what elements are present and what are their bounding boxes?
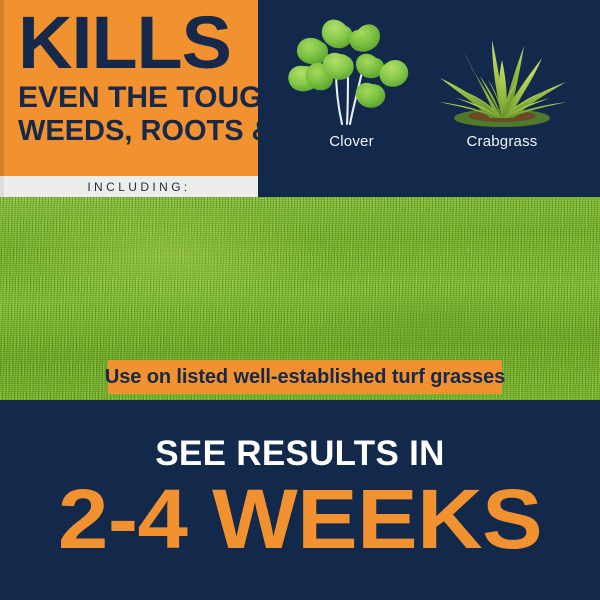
weed-showcase-panel: Clover: [258, 0, 600, 197]
including-strip: INCLUDING:: [0, 176, 258, 197]
see-results-heading: SEE RESULTS IN: [0, 436, 600, 471]
headline-kills: KILLS: [18, 8, 255, 78]
weed-label-crabgrass: Crabgrass: [422, 133, 582, 150]
headline-block: KILLS EVEN THE TOUGH WEEDS, ROOTS & ALL!: [0, 0, 258, 176]
headline-weeds-roots-all: WEEDS, ROOTS & ALL!: [18, 116, 250, 146]
crabgrass-plant-icon: [422, 14, 582, 132]
weed-item-clover: Clover: [284, 14, 419, 150]
product-feature-poster: KILLS EVEN THE TOUGH WEEDS, ROOTS & ALL!…: [0, 0, 600, 600]
usage-instruction-text: Use on listed well-established turf gras…: [105, 366, 505, 389]
including-label: INCLUDING:: [67, 180, 190, 194]
clover-plant-icon: [284, 14, 419, 132]
results-timeframe: 2-4 WEEKS: [0, 477, 600, 561]
weed-label-clover: Clover: [284, 133, 419, 150]
results-section: SEE RESULTS IN 2-4 WEEKS: [0, 400, 600, 600]
weed-item-crabgrass: Crabgrass: [422, 14, 582, 150]
top-section: KILLS EVEN THE TOUGH WEEDS, ROOTS & ALL!…: [0, 0, 600, 197]
headline-even-the-tough: EVEN THE TOUGH: [18, 82, 250, 114]
usage-instruction-banner: Use on listed well-established turf gras…: [108, 360, 502, 394]
